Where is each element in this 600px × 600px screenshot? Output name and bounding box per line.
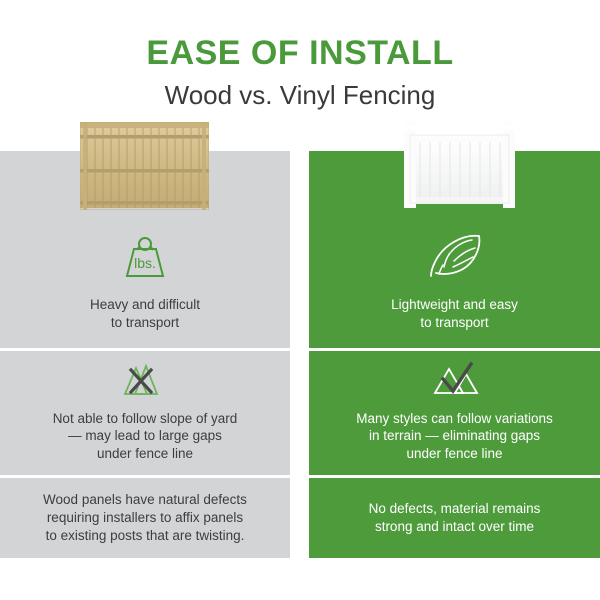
- vinyl-row-1-caption: Lightweight and easy to transport: [391, 296, 518, 332]
- caption-line: No defects, material remains: [369, 501, 541, 516]
- caption-line: Not able to follow slope of yard: [53, 411, 238, 426]
- caption-line: Many styles can follow variations: [356, 411, 553, 426]
- vinyl-row-3-panel: No defects, material remains strong and …: [309, 478, 600, 558]
- caption-line: — may lead to large gaps: [68, 428, 222, 443]
- wood-row-1-caption: Heavy and difficult to transport: [90, 296, 200, 332]
- caption-line: strong and intact over time: [375, 519, 534, 534]
- wood-row-2-panel: Not able to follow slope of yard — may l…: [0, 351, 290, 475]
- wood-row-3-caption: Wood panels have natural defects requiri…: [43, 491, 247, 544]
- vinyl-row-2-panel: Many styles can follow variations in ter…: [309, 351, 600, 475]
- infographic-root: EASE OF INSTALL Wood vs. Vinyl Fencing l…: [0, 0, 600, 600]
- wood-row-3-panel: Wood panels have natural defects requiri…: [0, 478, 290, 558]
- caption-line: Heavy and difficult: [90, 297, 200, 312]
- caption-line: under fence line: [406, 446, 502, 461]
- weight-icon: lbs.: [118, 233, 172, 286]
- header: EASE OF INSTALL Wood vs. Vinyl Fencing: [0, 0, 600, 108]
- wood-fence-photo: [80, 122, 209, 210]
- caption-line: in terrain — eliminating gaps: [369, 428, 540, 443]
- vinyl-fence-photo: [400, 119, 519, 209]
- caption-line: to transport: [420, 315, 488, 330]
- caption-line: under fence line: [97, 446, 193, 461]
- vinyl-row-3-caption: No defects, material remains strong and …: [369, 500, 541, 536]
- caption-line: Wood panels have natural defects: [43, 492, 247, 507]
- vinyl-row-2-caption: Many styles can follow variations in ter…: [356, 410, 553, 463]
- page-title: EASE OF INSTALL: [0, 0, 600, 70]
- wood-row-2-caption: Not able to follow slope of yard — may l…: [53, 410, 238, 463]
- mountain-x-icon: [117, 358, 173, 403]
- caption-line: to existing posts that are twisting.: [46, 528, 245, 543]
- caption-line: to transport: [111, 315, 179, 330]
- caption-line: requiring installers to affix panels: [47, 510, 243, 525]
- caption-line: Lightweight and easy: [391, 297, 518, 312]
- weight-icon-label: lbs.: [134, 255, 156, 271]
- page-subtitle: Wood vs. Vinyl Fencing: [0, 70, 600, 108]
- mountain-check-icon: [425, 356, 485, 403]
- feather-icon: [423, 231, 487, 286]
